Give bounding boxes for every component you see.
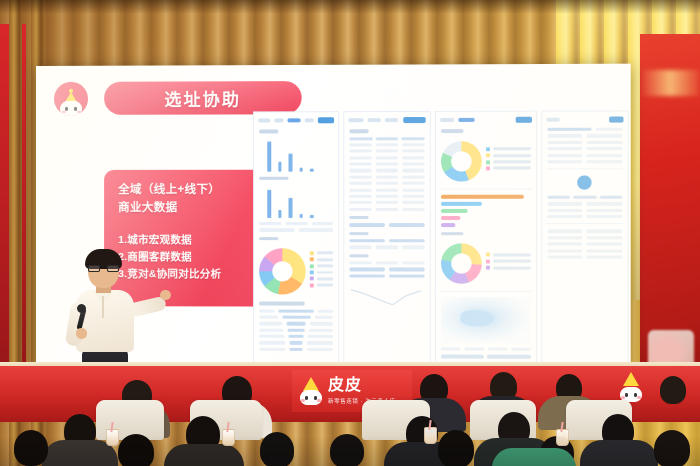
ceiling-shadow (0, 0, 700, 14)
legend-entry (485, 166, 530, 170)
chart-label (259, 237, 278, 241)
table-row (259, 222, 333, 225)
kpi-card (350, 223, 425, 226)
kpi-card (350, 261, 425, 264)
divider (546, 168, 623, 169)
info-card-heading-line2: 商业大数据 (118, 200, 257, 218)
kpi-cards-2 (350, 239, 425, 249)
seated-audience (0, 372, 700, 466)
competitor-list (547, 128, 622, 164)
drink-cup (222, 429, 235, 446)
table-row (440, 347, 530, 351)
donut-chart (440, 141, 481, 182)
list-item (547, 236, 622, 239)
donut-chart-block (259, 244, 333, 296)
table-row (350, 182, 425, 185)
dashboard-panel-city-macro (253, 111, 339, 367)
list-item (547, 160, 622, 163)
donut-chart-block-a (440, 136, 530, 183)
chart-section-2 (259, 176, 333, 218)
chart-label (259, 129, 278, 133)
tab-extra[interactable] (305, 118, 313, 122)
audience-head (118, 434, 154, 466)
panel-tabbar (349, 115, 426, 124)
tab-item[interactable] (349, 118, 364, 122)
chart-legend (485, 253, 530, 272)
bar (267, 141, 271, 171)
hbar-list (259, 309, 333, 351)
mascot-cheek-left (61, 110, 65, 113)
list-item (259, 316, 333, 319)
table-header-row (350, 137, 425, 141)
table-row (350, 208, 425, 211)
page-title: 选址协助 (164, 85, 241, 110)
bar (310, 168, 314, 171)
table-header-row (440, 355, 530, 359)
mascot-figure (60, 92, 82, 116)
speaker-left-hand (76, 328, 87, 339)
tab-item[interactable] (439, 117, 453, 121)
list-item: 1.城市宏观数据 (118, 232, 257, 249)
list-item (547, 134, 622, 137)
audience-shoulders (580, 440, 658, 466)
bar (278, 210, 282, 218)
bar-chart-1 (259, 137, 333, 171)
table-row (350, 175, 425, 178)
table-row (547, 209, 622, 212)
conference-photo-scene: 选址协助 全域（线上+线下） 商业大数据 1.城市宏观数据 2.商圈客群数据 3… (0, 0, 700, 466)
drink-cup (106, 429, 119, 446)
kpi-card (350, 239, 425, 242)
dashboard-screenshots (253, 110, 629, 368)
bar (288, 153, 292, 171)
export-button[interactable] (609, 116, 623, 122)
list-item (547, 230, 622, 233)
audience-head (14, 430, 48, 466)
audience-head (654, 430, 690, 466)
bar (299, 214, 303, 218)
bar (440, 215, 460, 219)
bar (288, 198, 292, 218)
list-item (547, 141, 622, 144)
legend-entry (485, 259, 530, 263)
tab-detail[interactable] (274, 118, 282, 122)
audience-shoulders (164, 444, 244, 466)
tab-active[interactable] (458, 117, 474, 121)
glasses-icon (88, 265, 119, 273)
donut-title (440, 129, 530, 133)
bar-chart-2 (259, 184, 333, 218)
bar (278, 161, 282, 171)
donut-chart (440, 243, 481, 283)
legend-entry (310, 264, 334, 268)
table-row (350, 143, 425, 146)
list-item (547, 249, 622, 252)
donut-chart (259, 248, 306, 294)
list-section (259, 302, 333, 306)
mascot-face-icon (60, 101, 82, 116)
chart-legend (310, 251, 334, 290)
table-title (350, 129, 425, 133)
bar (440, 194, 523, 198)
geographic-map-chart (440, 297, 530, 344)
list-item (259, 341, 333, 344)
chart-label (259, 302, 305, 306)
list-item (259, 335, 333, 338)
audience-head (438, 430, 474, 466)
panel-tabbar (258, 115, 334, 124)
table-row (259, 228, 333, 231)
divider (439, 291, 531, 292)
kpi-title-2 (350, 232, 425, 236)
legend-entry (310, 258, 334, 262)
footer-list (547, 230, 622, 259)
dashboard-panel-competitor (541, 110, 629, 368)
map-legend-row (440, 347, 530, 351)
table-row (350, 162, 425, 165)
chart-legend (485, 147, 530, 173)
info-card-heading-line1: 全域（线上+线下） (118, 182, 257, 200)
list-item (259, 348, 333, 351)
kpi-row-group (259, 222, 333, 232)
panel-tabbar (439, 115, 531, 124)
list-item (259, 309, 333, 312)
export-button[interactable] (403, 116, 425, 122)
legend-entry (310, 270, 334, 274)
table-row (350, 156, 425, 159)
kpi-title (350, 216, 425, 220)
table-row (350, 150, 425, 153)
bar (310, 215, 314, 218)
speaker-shirt-placket (102, 296, 104, 318)
donut-section (259, 237, 333, 241)
list-item (547, 128, 622, 131)
tab-item[interactable] (368, 118, 381, 122)
table-header-row (547, 196, 622, 199)
kpi-cards (350, 223, 425, 226)
legend-entry (310, 283, 334, 287)
divider (546, 223, 623, 224)
drink-cup (556, 429, 569, 446)
list-item (547, 242, 622, 245)
legend-entry (485, 147, 530, 151)
competitor-table (547, 196, 622, 219)
donut-title-b (440, 232, 530, 236)
tab-item[interactable] (546, 117, 559, 121)
list-item (547, 154, 622, 157)
panel-tabbar (546, 114, 623, 123)
divider (439, 188, 531, 189)
line-chart-svg (350, 282, 425, 308)
dashboard-panel-customer-profile (434, 111, 537, 368)
table-row (350, 169, 425, 172)
export-button[interactable] (515, 116, 531, 122)
bar (440, 223, 454, 227)
bar (440, 208, 467, 212)
drink-cup (424, 427, 437, 444)
mascot-cheek-right (77, 110, 81, 113)
bar (267, 190, 271, 218)
horizontal-bar-chart (440, 194, 530, 226)
table-row (350, 188, 425, 191)
kpi-cards-3 (350, 261, 425, 277)
export-button[interactable] (317, 117, 334, 123)
list-item (547, 255, 622, 258)
legend-entry (485, 160, 530, 164)
slide-title-pill: 选址协助 (104, 81, 302, 115)
kpi-card (350, 246, 425, 249)
audience-shoulders (492, 448, 576, 466)
gauge-indicator (578, 175, 592, 189)
donut-chart-block-b (440, 239, 530, 286)
legend-entry (310, 277, 334, 281)
chart-section-1 (259, 129, 333, 171)
tab-overview[interactable] (258, 118, 270, 122)
legend-entry (485, 266, 530, 270)
dashboard-panel-trade-area (344, 111, 431, 368)
table-row (547, 215, 622, 218)
audience-head (330, 434, 364, 466)
legend-entry (485, 253, 530, 257)
kpi-card (350, 274, 425, 277)
table-row (350, 201, 425, 204)
microphone-head-icon (77, 304, 86, 313)
line-chart (350, 282, 425, 308)
list-item (547, 147, 622, 150)
table-row (547, 202, 622, 205)
bar (440, 201, 481, 205)
pipi-mascot-logo (54, 82, 88, 116)
tab-active[interactable] (287, 118, 301, 122)
legend-entry (485, 153, 530, 157)
kpi-title-3 (350, 254, 425, 258)
chart-label (259, 176, 289, 180)
audience-head (660, 376, 686, 404)
list-item (259, 328, 333, 331)
legend-entry (310, 251, 334, 255)
list-item (259, 322, 333, 325)
tab-item[interactable] (385, 118, 398, 122)
table-row (350, 195, 425, 198)
data-table (350, 137, 425, 211)
bar (299, 167, 303, 171)
audience-head (260, 432, 294, 466)
speaker-right-hand (160, 290, 171, 300)
right-banner-light-sheen (640, 70, 700, 96)
kpi-card (350, 268, 425, 271)
